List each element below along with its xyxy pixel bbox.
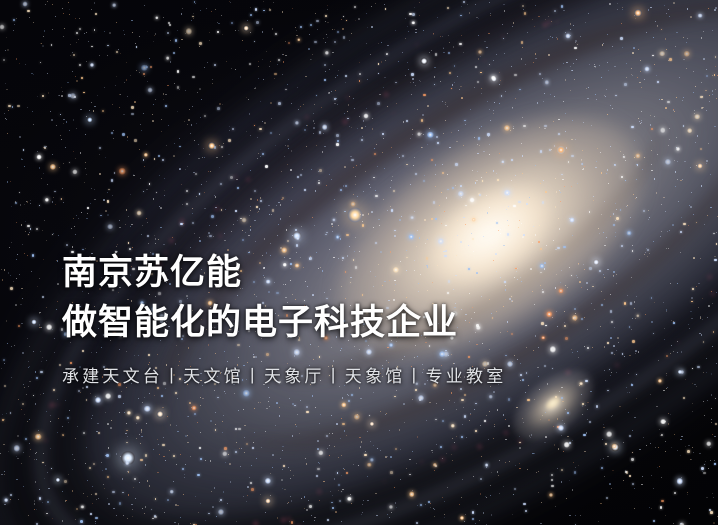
hii-knot	[280, 517, 286, 523]
hii-knot	[384, 92, 389, 97]
hii-knot	[676, 340, 680, 344]
hii-knot	[451, 445, 456, 450]
hii-knot	[477, 444, 482, 449]
hii-knot	[169, 237, 175, 243]
headline-line-2: 做智能化的电子科技企业	[62, 298, 506, 348]
hero-copy: 南京苏亿能 做智能化的电子科技企业 承建天文台丨天文馆丨天象厅丨天象馆丨专业教室	[62, 248, 506, 388]
hii-knot	[485, 421, 488, 424]
hero-banner: 南京苏亿能 做智能化的电子科技企业 承建天文台丨天文馆丨天象厅丨天象馆丨专业教室	[0, 0, 718, 525]
subtitle-services: 承建天文台丨天文馆丨天象厅丨天象馆丨专业教室	[62, 366, 506, 388]
hii-knot	[619, 368, 621, 370]
hii-knot	[215, 207, 219, 211]
hii-knot	[181, 225, 184, 228]
hii-knot	[546, 19, 552, 25]
hii-knot	[287, 517, 291, 521]
hii-knot	[707, 274, 712, 279]
hii-knot	[483, 59, 486, 62]
headline-line-1: 南京苏亿能	[62, 248, 506, 298]
hii-knot	[503, 430, 508, 435]
hii-knot	[384, 480, 387, 483]
hii-knot	[421, 460, 424, 463]
hii-knot	[556, 21, 559, 24]
hii-knot	[346, 96, 349, 99]
hii-knot	[44, 439, 47, 442]
hii-knot	[440, 457, 445, 462]
hii-knot	[180, 219, 185, 224]
hii-knot	[710, 291, 716, 297]
hii-knot	[246, 177, 251, 182]
hii-knot	[500, 35, 503, 38]
hii-knot	[313, 170, 315, 172]
hii-knot	[49, 402, 55, 408]
hii-knot	[305, 115, 309, 119]
hii-knot	[342, 120, 347, 125]
hii-knot	[518, 439, 523, 444]
hii-knot	[317, 489, 322, 494]
hii-knot	[218, 233, 223, 238]
hii-knot	[56, 403, 59, 406]
hii-knot	[392, 111, 395, 114]
hii-knot	[233, 175, 237, 179]
hii-knot	[416, 44, 419, 47]
hii-knot	[253, 521, 259, 525]
